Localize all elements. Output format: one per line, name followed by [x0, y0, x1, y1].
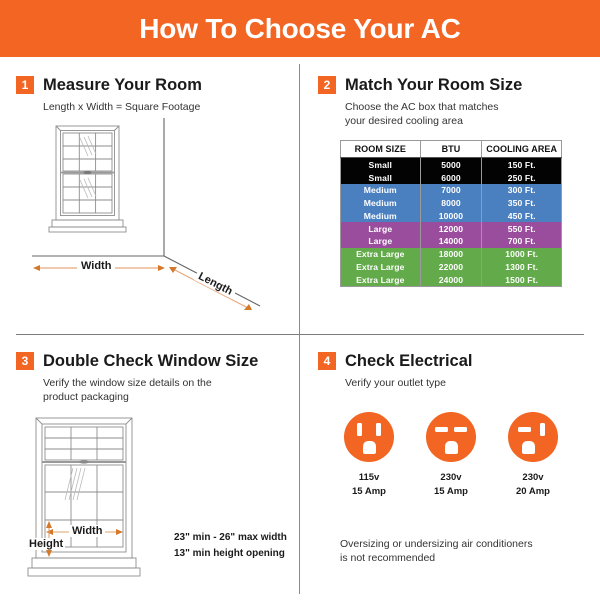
panel-measure-your-room: 1 Measure Your Room Length x Width = Squ… [16, 76, 294, 326]
table-cell-room-size: Small [341, 158, 421, 171]
outlet-slot [445, 441, 458, 454]
table-row: Extra Large240001500 Ft. [341, 273, 562, 286]
window-width-label: Width [69, 525, 105, 537]
room-diagram-svg [16, 116, 294, 316]
table-row: Extra Large220001300 Ft. [341, 261, 562, 274]
step-badge-4: 4 [318, 352, 336, 370]
page-title: How To Choose Your AC [139, 15, 460, 43]
step-badge-1: 1 [16, 76, 34, 94]
outlet-item: 230v15 Amp [414, 412, 488, 499]
panel-2-title: Match Your Room Size [345, 77, 522, 94]
panel-3-title: Double Check Window Size [43, 353, 258, 370]
panel-3-subtitle: Verify the window size details on the pr… [43, 376, 294, 404]
outlet-slot [518, 427, 531, 432]
table-cell-room-size: Medium [341, 209, 421, 222]
table-row: Small6000250 Ft. [341, 171, 562, 184]
table-cell-cooling-area: 450 Ft. [482, 209, 562, 222]
window-note-height: 13" min height opening [174, 546, 287, 562]
table-cell-cooling-area: 550 Ft. [482, 222, 562, 235]
oversizing-note: Oversizing or undersizing air conditione… [340, 537, 584, 566]
outlet-amperage: 15 Amp [414, 485, 488, 499]
panel-double-check-window-size: 3 Double Check Window Size Verify the wi… [16, 352, 294, 592]
outlet-slot [435, 427, 448, 432]
table-cell-room-size: Small [341, 171, 421, 184]
table-cell-btu: 12000 [420, 222, 482, 235]
outlet-item: 230v20 Amp [496, 412, 570, 499]
panel-2-subtitle: Choose the AC box that matches your desi… [345, 100, 584, 128]
panel-check-electrical: 4 Check Electrical Verify your outlet ty… [318, 352, 584, 592]
outlet-label: 230v20 Amp [496, 471, 570, 499]
window-height-label: Height [27, 538, 65, 550]
table-cell-btu: 22000 [420, 261, 482, 274]
table-cell-btu: 6000 [420, 171, 482, 184]
table-row: Medium8000350 Ft. [341, 197, 562, 210]
panel-1-subtitle: Length x Width = Square Footage [43, 100, 294, 114]
outlet-label: 115v15 Amp [332, 471, 406, 499]
table-row: Medium10000450 Ft. [341, 209, 562, 222]
panel-1-title: Measure Your Room [43, 77, 202, 94]
panel-4-title: Check Electrical [345, 353, 473, 370]
step-badge-2: 2 [318, 76, 336, 94]
panel-match-your-room-size: 2 Match Your Room Size Choose the AC box… [318, 76, 584, 326]
column-header-cooling-area: COOLING AREA [482, 141, 562, 158]
table-cell-cooling-area: 1500 Ft. [482, 273, 562, 286]
table-cell-btu: 18000 [420, 248, 482, 261]
panel-3-body: Width Height 23" min - 26" max width 13"… [16, 412, 294, 597]
panel-4-subtitle: Verify your outlet type [345, 376, 584, 390]
outlet-voltage: 230v [414, 471, 488, 485]
table-row: Extra Large180001000 Ft. [341, 248, 562, 261]
table-row: Small5000150 Ft. [341, 158, 562, 171]
table-row: Large14000700 Ft. [341, 235, 562, 248]
window-diagram-svg [16, 412, 166, 597]
table-cell-cooling-area: 700 Ft. [482, 235, 562, 248]
table-row: Large12000550 Ft. [341, 222, 562, 235]
outlet-230v-15amp-icon [426, 412, 476, 462]
outlet-types-list: 115v15 Amp230v15 Amp230v20 Amp [328, 412, 574, 499]
table-cell-room-size: Extra Large [341, 273, 421, 286]
table-row: Medium7000300 Ft. [341, 184, 562, 197]
room-width-label: Width [77, 260, 115, 272]
table-cell-cooling-area: 150 Ft. [482, 158, 562, 171]
step-badge-3: 3 [16, 352, 34, 370]
outlet-230v-20amp-icon [508, 412, 558, 462]
window-note-width: 23" min - 26" max width [174, 530, 287, 546]
table-cell-room-size: Large [341, 222, 421, 235]
panel-2-header: 2 Match Your Room Size [318, 76, 584, 94]
outlet-slot [540, 423, 545, 436]
panel-3-header: 3 Double Check Window Size [16, 352, 294, 370]
table-cell-room-size: Large [341, 235, 421, 248]
table-cell-btu: 8000 [420, 197, 482, 210]
window-measure-diagram: Width Height [16, 412, 166, 597]
outlet-slot [454, 427, 467, 432]
outlet-slot [522, 441, 535, 454]
table-cell-cooling-area: 1300 Ft. [482, 261, 562, 274]
table-cell-room-size: Medium [341, 184, 421, 197]
table-cell-cooling-area: 1000 Ft. [482, 248, 562, 261]
page-header: How To Choose Your AC [0, 0, 600, 57]
outlet-slot [363, 441, 376, 454]
panel-1-header: 1 Measure Your Room [16, 76, 294, 94]
outlet-115v-15amp-icon [344, 412, 394, 462]
outlet-label: 230v15 Amp [414, 471, 488, 499]
table-cell-room-size: Extra Large [341, 261, 421, 274]
btu-sizing-table: ROOM SIZE BTU COOLING AREA Small5000150 … [340, 140, 562, 287]
column-header-btu: BTU [420, 141, 482, 158]
table-cell-cooling-area: 300 Ft. [482, 184, 562, 197]
room-corner-window-diagram: Width Length [16, 116, 294, 316]
outlet-slot [357, 423, 362, 436]
table-cell-cooling-area: 350 Ft. [482, 197, 562, 210]
table-cell-btu: 10000 [420, 209, 482, 222]
outlet-amperage: 20 Amp [496, 485, 570, 499]
outlet-voltage: 230v [496, 471, 570, 485]
outlet-amperage: 15 Amp [332, 485, 406, 499]
table-cell-room-size: Extra Large [341, 248, 421, 261]
outlet-voltage: 115v [332, 471, 406, 485]
panel-4-header: 4 Check Electrical [318, 352, 584, 370]
horizontal-divider [16, 334, 584, 335]
column-header-room-size: ROOM SIZE [341, 141, 421, 158]
table-cell-room-size: Medium [341, 197, 421, 210]
table-header-row: ROOM SIZE BTU COOLING AREA [341, 141, 562, 158]
table-cell-btu: 7000 [420, 184, 482, 197]
table-cell-cooling-area: 250 Ft. [482, 171, 562, 184]
outlet-item: 115v15 Amp [332, 412, 406, 499]
table-cell-btu: 24000 [420, 273, 482, 286]
vertical-divider [299, 64, 300, 594]
window-size-notes: 23" min - 26" max width 13" min height o… [174, 530, 287, 597]
outlet-slot [376, 423, 381, 436]
table-cell-btu: 5000 [420, 158, 482, 171]
table-cell-btu: 14000 [420, 235, 482, 248]
